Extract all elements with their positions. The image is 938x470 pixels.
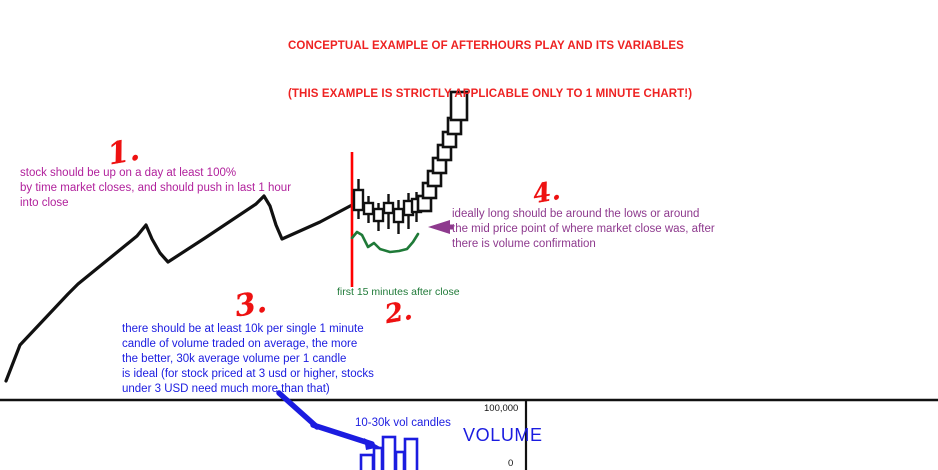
numeral-marker-4: 4. xyxy=(531,178,562,208)
numeral-marker-3: 3. xyxy=(233,288,269,323)
volume-panel-title: VOLUME xyxy=(463,424,543,447)
title-line-1: CONCEPTUAL EXAMPLE OF AFTERHOURS PLAY AN… xyxy=(288,38,692,56)
annotation-note-4: ideally long should be around the lows o… xyxy=(452,207,715,252)
purple-pointer-icon xyxy=(428,220,453,234)
first-15-minutes-label: first 15 minutes after close xyxy=(337,286,460,300)
volume-callout-label: 10-30k vol candles xyxy=(355,416,451,431)
annotation-note-3: there should be at least 10k per single … xyxy=(122,322,374,397)
volume-axis-min-label: 0 xyxy=(508,458,513,470)
page-title: CONCEPTUAL EXAMPLE OF AFTERHOURS PLAY AN… xyxy=(288,8,692,133)
afterhours-support-squiggle xyxy=(352,232,418,252)
numeral-marker-2: 2. xyxy=(383,298,414,328)
title-line-2: (THIS EXAMPLE IS STRICTLY APPLICABLE ONL… xyxy=(288,86,692,104)
afterhours-candle-cluster xyxy=(354,179,421,234)
chart-canvas: CONCEPTUAL EXAMPLE OF AFTERHOURS PLAY AN… xyxy=(0,0,938,470)
annotation-note-1: stock should be up on a day at least 100… xyxy=(20,166,291,211)
volume-axis-max-label: 100,000 xyxy=(484,403,518,415)
